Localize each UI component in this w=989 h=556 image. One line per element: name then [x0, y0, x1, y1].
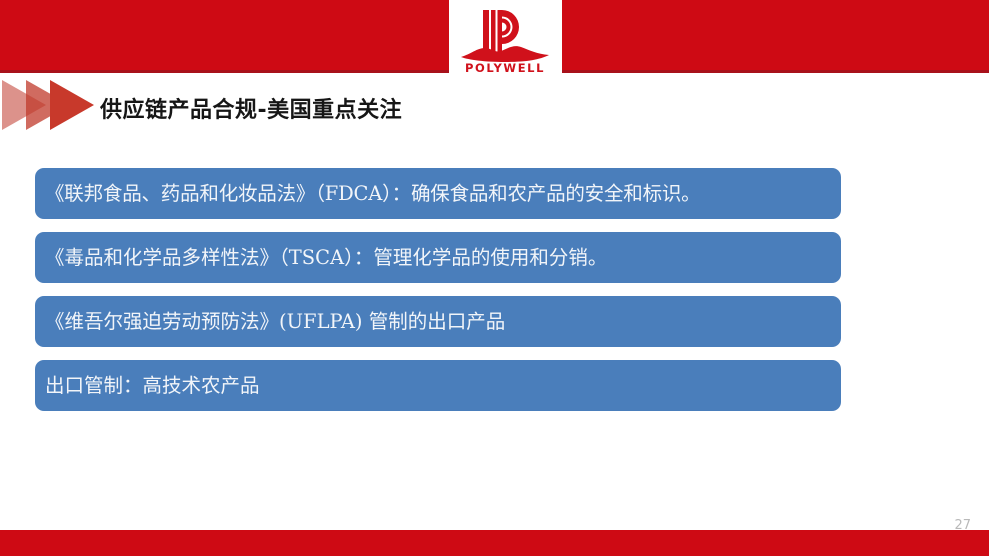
- list-item[interactable]: 《维吾尔强迫劳动预防法》(UFLPA) 管制的出口产品: [35, 296, 841, 347]
- footer-red-band: [0, 530, 989, 556]
- bar-label: 《联邦食品、药品和化妆品法》（FDCA）：确保食品和农产品的安全和标识。: [45, 182, 700, 205]
- slide: POLYWELL 供应链产品合规-美国重点关注 《联邦食品、药品和化妆品法》（F…: [0, 0, 989, 556]
- list-item[interactable]: 出口管制：高技术农产品: [35, 360, 841, 411]
- polywell-logo-icon: POLYWELL: [455, 4, 555, 74]
- svg-text:POLYWELL: POLYWELL: [465, 61, 545, 74]
- triple-arrow-icon: [2, 76, 112, 134]
- bar-label: 《维吾尔强迫劳动预防法》(UFLPA) 管制的出口产品: [45, 310, 505, 333]
- polywell-logo: POLYWELL: [455, 4, 555, 74]
- bar-label: 《毒品和化学品多样性法》（TSCA）：管理化学品的使用和分销。: [45, 246, 607, 269]
- list-item[interactable]: 《毒品和化学品多样性法》（TSCA）：管理化学品的使用和分销。: [35, 232, 841, 283]
- page-title: 供应链产品合规-美国重点关注: [100, 92, 402, 124]
- compliance-bar-list: 《联邦食品、药品和化妆品法》（FDCA）：确保食品和农产品的安全和标识。 《毒品…: [35, 168, 841, 424]
- bar-label: 出口管制：高技术农产品: [45, 374, 260, 397]
- title-arrows-decoration: [2, 76, 112, 134]
- list-item[interactable]: 《联邦食品、药品和化妆品法》（FDCA）：确保食品和农产品的安全和标识。: [35, 168, 841, 219]
